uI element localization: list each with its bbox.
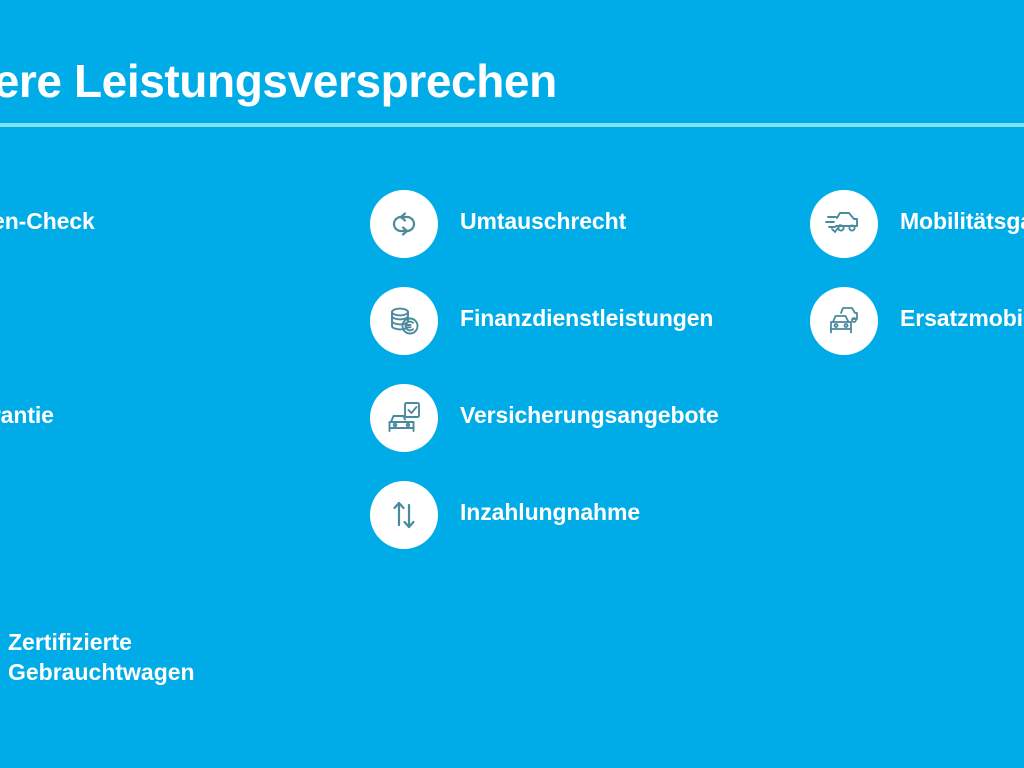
feature-item[interactable]: Gebrauchtwagengarantie: [0, 384, 340, 481]
feature-item[interactable]: Versicherungsangebote: [370, 384, 800, 481]
feature-label: Mobilitätsgarantie: [900, 208, 1024, 235]
feature-label: Versicherungsangebote: [460, 402, 719, 429]
feature-item[interactable]: 360° Gebrauchtwagen-Check: [0, 190, 340, 287]
feature-label: 360° Gebrauchtwagen-Check: [0, 208, 95, 235]
feature-column-right: Mobilitätsgarantie Ersatzmobilitä: [810, 190, 1024, 384]
feature-item[interactable]: Umtauschrecht: [370, 190, 800, 287]
badge-label-line2: Gebrauchtwagen: [8, 659, 195, 685]
feature-label: Inzahlungnahme: [460, 499, 640, 526]
feature-label: Umtauschrecht: [460, 208, 626, 235]
feature-column-middle: Umtauschrecht Finanzdienstleistun: [370, 190, 800, 578]
feature-label: Gebrauchtwagengarantie: [0, 402, 54, 429]
slide-root: Unsere Leistungsversprechen 360° Gebrauc…: [0, 0, 1024, 768]
feature-item[interactable]: Finanzdienstleistungen: [370, 287, 800, 384]
two-cars-icon: [810, 287, 878, 355]
speeding-car-icon: [810, 190, 878, 258]
feature-column-left: 360° Gebrauchtwagen-Check Qualitätszerti…: [0, 190, 340, 578]
feature-item[interactable]: Qualitätszertifikat: [0, 287, 340, 384]
badge-label-line1: Zertifizierte: [8, 629, 132, 655]
euro-coins-icon: [370, 287, 438, 355]
car-checkbox-icon: [370, 384, 438, 452]
feature-item[interactable]: Mobilitätsgarantie: [810, 190, 1024, 287]
feature-label: Ersatzmobilität: [900, 305, 1024, 332]
badge-label: Zertifizierte Gebrauchtwagen: [8, 627, 195, 687]
exchange-arrows-icon: [370, 190, 438, 258]
feature-item[interactable]: Inzahlungnahme: [370, 481, 800, 578]
feature-item[interactable]: Ersatzmobilität: [810, 287, 1024, 384]
up-down-arrows-icon: [370, 481, 438, 549]
certified-used-cars-badge: Zertifizierte Gebrauchtwagen: [0, 625, 440, 695]
feature-item[interactable]: Wartungsfreiheit: [0, 481, 340, 578]
feature-label: Finanzdienstleistungen: [460, 305, 713, 332]
